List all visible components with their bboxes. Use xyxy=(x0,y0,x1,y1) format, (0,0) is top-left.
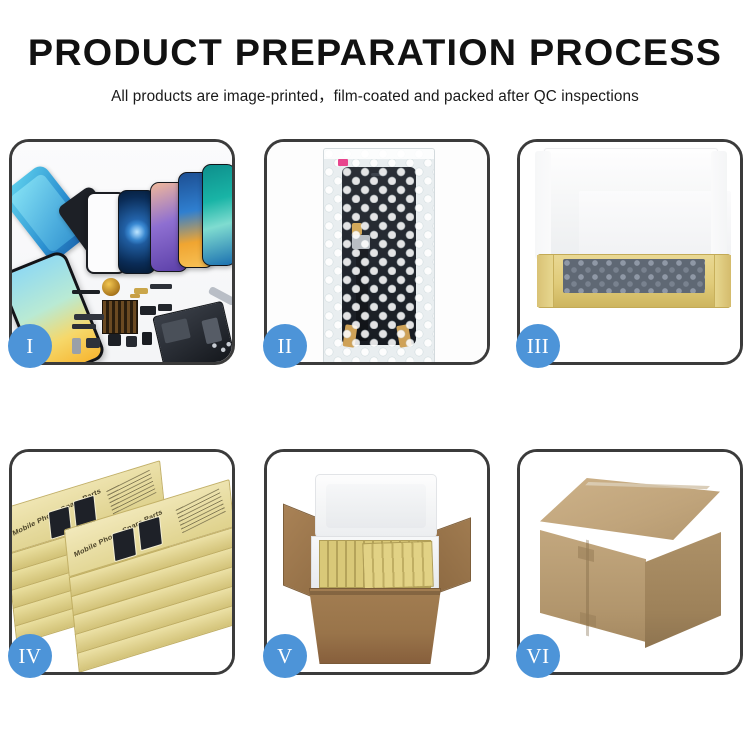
yellow-boxes-row-2-icon xyxy=(362,541,434,589)
box-artwork-screen-icon xyxy=(111,527,136,563)
product-preparation-process-page: PRODUCT PREPARATION PROCESS All products… xyxy=(0,0,750,750)
carton-side-face-icon xyxy=(645,532,721,648)
step-4-badge: IV xyxy=(8,634,52,678)
flex-cable-part-icon xyxy=(150,284,172,289)
bubble-texture-icon xyxy=(324,149,434,362)
process-step-5: V xyxy=(264,449,490,675)
ribbon-cable-2-icon xyxy=(72,324,96,329)
box-stack-front-icon: Mobile Phone Spare Parts xyxy=(62,496,232,672)
earpiece-mesh-icon xyxy=(72,290,100,294)
connector-part-2-icon xyxy=(158,304,172,311)
vibration-motor-icon xyxy=(102,278,120,296)
ribbon-cable-icon xyxy=(74,314,104,320)
button-component-icon xyxy=(86,338,100,348)
bubble-wrapped-contents-icon xyxy=(563,259,705,293)
foam-inner-panel-icon xyxy=(579,191,731,263)
foam-lid-icon xyxy=(544,148,718,262)
gold-contact-part-icon xyxy=(130,294,140,298)
step-1-badge: I xyxy=(8,324,52,368)
loose-screws-icon xyxy=(210,340,232,354)
bubble-wrap-bag-icon xyxy=(323,148,435,362)
step-6-badge: VI xyxy=(516,634,560,678)
process-step-3: III xyxy=(517,139,743,365)
step-2-badge: II xyxy=(263,324,307,368)
box-artwork-screen-icon xyxy=(137,516,162,552)
teal-gradient-phone-icon xyxy=(202,164,232,266)
process-step-4: Mobile Phone Spare Parts Mo xyxy=(9,449,235,675)
speaker-module-icon xyxy=(126,336,137,347)
connector-part-1-icon xyxy=(140,306,156,315)
screw-tray-grid-icon xyxy=(102,300,138,334)
step-3-badge: III xyxy=(516,324,560,368)
box-left-lip-icon xyxy=(537,255,554,307)
process-step-1: I xyxy=(9,139,235,365)
process-step-grid: I II xyxy=(0,0,750,750)
box-right-lip-icon xyxy=(714,255,731,307)
sim-tray-icon xyxy=(72,338,81,354)
small-component-icon xyxy=(142,332,152,345)
carton-body-icon xyxy=(309,588,441,664)
camera-module-icon xyxy=(108,334,121,346)
process-step-2: II xyxy=(264,139,490,365)
yellow-box-tray-icon xyxy=(538,254,730,308)
foam-lid-open-icon xyxy=(315,474,437,538)
pink-qc-sticker-icon xyxy=(338,159,348,166)
step-5-badge: V xyxy=(263,634,307,678)
box-spec-lines-icon xyxy=(175,488,225,534)
bag-seal-icon xyxy=(324,149,434,159)
process-step-6: VI xyxy=(517,449,743,675)
